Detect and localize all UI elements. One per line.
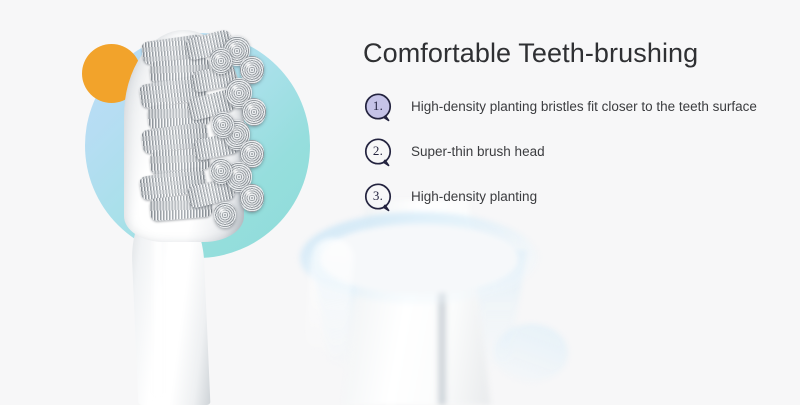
list-item: 1. High-density planting bristles fit cl…: [363, 85, 783, 130]
badge-number-label: 2.: [364, 138, 392, 165]
toothbrush-hero-image: [112, 22, 302, 405]
glass-cup-base: [494, 324, 568, 382]
badge-number-label: 1.: [364, 93, 392, 120]
feature-text: High-density planting: [411, 189, 537, 205]
feature-text: Super-thin brush head: [411, 144, 545, 160]
feature-list: 1. High-density planting bristles fit cl…: [363, 85, 783, 220]
toothbrush-in-cup-image: [286, 198, 568, 405]
toothbrush-neck-highlight: [150, 217, 166, 402]
list-item: 2. Super-thin brush head: [363, 130, 783, 175]
badge-number-label: 3.: [364, 183, 392, 210]
number-badge-2: 2.: [364, 138, 394, 168]
bristle-field: [140, 34, 272, 232]
number-badge-3: 3.: [364, 183, 394, 213]
feature-text-panel: Comfortable Teeth-brushing 1. High-densi…: [363, 40, 783, 220]
page-title: Comfortable Teeth-brushing: [363, 40, 783, 67]
number-badge-1: 1.: [364, 93, 394, 123]
list-item: 3. High-density planting: [363, 175, 783, 220]
product-feature-banner: Comfortable Teeth-brushing 1. High-densi…: [0, 0, 800, 405]
feature-text: High-density planting bristles fit close…: [411, 99, 757, 115]
